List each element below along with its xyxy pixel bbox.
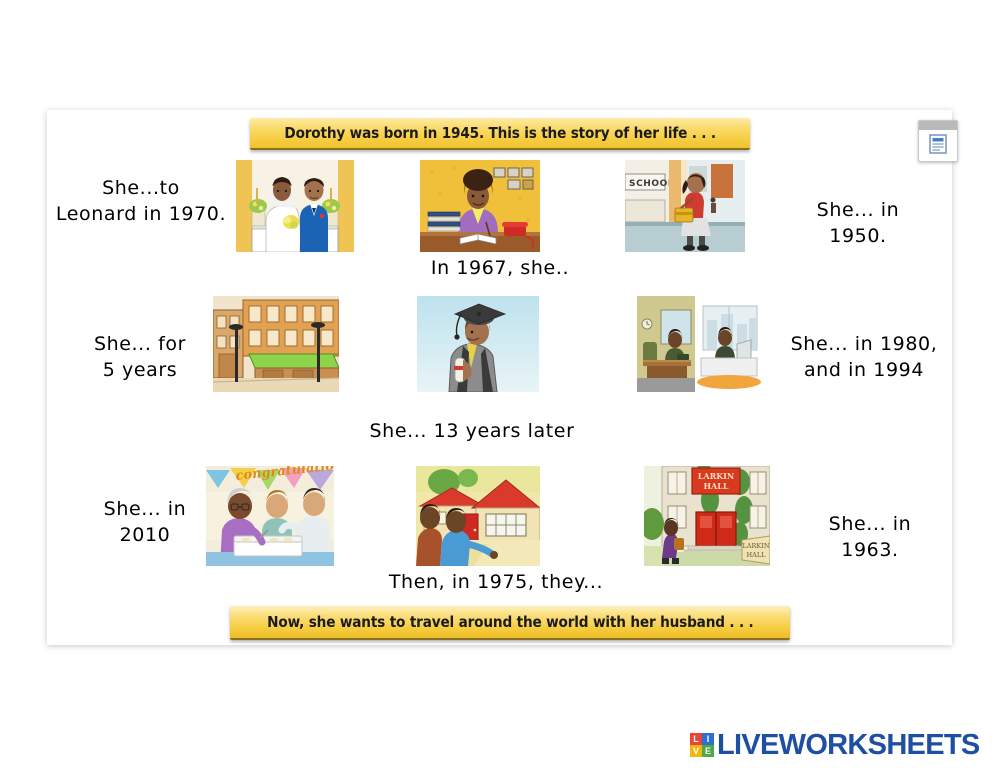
picture-larkin-hall: LARKIN HALL LARKIN HALL: [644, 466, 770, 566]
caption-born-1950: She... in 1950.: [764, 198, 952, 249]
logo-letter-l: L: [690, 733, 702, 745]
bottom-banner: Now, she wants to travel around the worl…: [230, 606, 790, 640]
picture-office-promotion: [637, 296, 761, 392]
document-tool-chip[interactable]: [918, 120, 958, 162]
logo-letter-v: V: [690, 745, 702, 757]
bottom-banner-text: Now, she wants to travel around the worl…: [267, 613, 753, 631]
caption-then-1975: Then, in 1975, they...: [350, 570, 642, 596]
top-banner-text: Dorothy was born in 1945. This is the st…: [284, 124, 715, 142]
picture-going-to-school: SCHOOL: [625, 160, 745, 252]
caption-lived-5-years: She... for 5 years: [62, 332, 218, 383]
svg-text:LARKIN: LARKIN: [742, 542, 769, 550]
svg-text:HALL: HALL: [703, 481, 728, 491]
caption-retired-2010: She... in 2010: [62, 497, 228, 548]
logo-squares-icon: L I V E: [690, 733, 714, 757]
logo-letter-e: E: [702, 745, 714, 757]
picture-graduation: [417, 296, 539, 392]
liveworksheets-logo: L I V E LIVEWORKSHEETS: [690, 728, 980, 762]
svg-text:SCHOOL: SCHOOL: [629, 179, 674, 189]
logo-letter-i: I: [702, 733, 714, 745]
svg-text:HALL: HALL: [747, 551, 767, 559]
tool-chip-titlebar: [919, 121, 957, 130]
caption-promoted-1980-1994: She... in 1980, and in 1994: [766, 332, 962, 383]
logo-wordmark: LIVEWORKSHEETS: [717, 729, 980, 762]
picture-wedding: [236, 160, 354, 252]
document-icon: [929, 134, 947, 158]
svg-text:LARKIN: LARKIN: [698, 471, 735, 481]
caption-in-1963: She... in 1963.: [780, 512, 960, 563]
caption-thirteen-years-later: She... 13 years later: [330, 419, 614, 445]
caption-married-leonard: She...to Leonard in 1970.: [30, 176, 252, 227]
top-banner: Dorothy was born in 1945. This is the st…: [250, 118, 750, 150]
picture-new-house: [416, 466, 540, 566]
picture-apartment-building: [213, 296, 339, 392]
caption-in-1967: In 1967, she..: [398, 256, 602, 282]
picture-studying-at-desk: [420, 160, 540, 252]
